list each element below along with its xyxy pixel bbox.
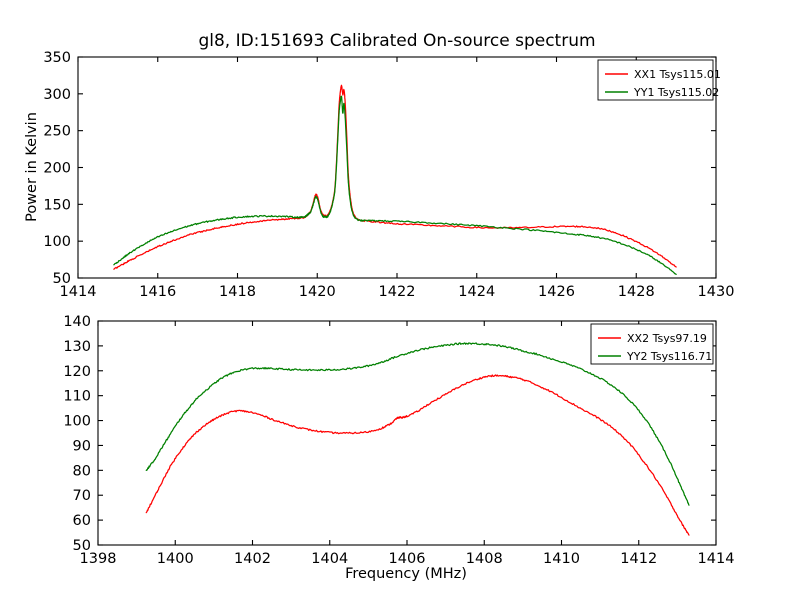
y-tick-label: 100 [63, 414, 91, 430]
y-tick-label: 120 [63, 364, 91, 380]
x-tick-label: 1404 [311, 551, 348, 567]
y-tick-label: 90 [73, 438, 91, 454]
legend-label: XX1 Tsys115.01 [634, 68, 721, 81]
y-tick-label: 80 [73, 463, 91, 479]
y-tick-label: 150 [43, 197, 71, 213]
y-tick-label: 100 [43, 234, 71, 250]
x-tick-label: 1420 [299, 284, 336, 300]
x-tick-label: 1410 [543, 551, 580, 567]
y-tick-label: 250 [43, 124, 71, 140]
y-tick-label: 50 [53, 271, 71, 287]
y-tick-label: 130 [63, 339, 91, 355]
y-tick-label: 300 [43, 87, 71, 103]
x-tick-label: 1416 [139, 284, 176, 300]
y-tick-label: 140 [63, 314, 91, 330]
x-tick-label: 1408 [466, 551, 503, 567]
legend-label: XX2 Tsys97.19 [627, 332, 707, 345]
plot-canvas: gl8, ID:151693 Calibrated On-source spec… [0, 0, 800, 600]
y-tick-label: 200 [43, 161, 71, 177]
bottom-panel-legend[interactable]: XX2 Tsys97.19YY2 Tsys116.71 [591, 324, 713, 364]
legend-label: YY1 Tsys115.02 [633, 86, 719, 99]
x-tick-label: 1414 [698, 551, 735, 567]
page-title: gl8, ID:151693 Calibrated On-source spec… [198, 31, 595, 51]
y-tick-label: 110 [63, 389, 91, 405]
x-tick-label: 1412 [620, 551, 657, 567]
x-tick-label: 1428 [618, 284, 655, 300]
top-panel-ylabel: Power in Kelvin [24, 112, 40, 222]
x-tick-label: 1430 [698, 284, 735, 300]
x-tick-label: 1426 [538, 284, 575, 300]
y-tick-label: 50 [73, 538, 91, 554]
x-tick-label: 1418 [219, 284, 256, 300]
spectrum-figure: gl8, ID:151693 Calibrated On-source spec… [0, 0, 800, 600]
legend-label: YY2 Tsys116.71 [626, 350, 712, 363]
x-tick-label: 1402 [234, 551, 271, 567]
x-tick-label: 1406 [389, 551, 426, 567]
y-tick-label: 70 [73, 488, 91, 504]
x-tick-label: 1400 [157, 551, 194, 567]
y-tick-label: 350 [43, 50, 71, 66]
x-tick-label: 1422 [379, 284, 416, 300]
y-tick-label: 60 [73, 513, 91, 529]
bottom-panel-xlabel: Frequency (MHz) [345, 566, 467, 582]
x-tick-label: 1424 [458, 284, 495, 300]
top-panel-legend[interactable]: XX1 Tsys115.01YY1 Tsys115.02 [598, 60, 721, 100]
